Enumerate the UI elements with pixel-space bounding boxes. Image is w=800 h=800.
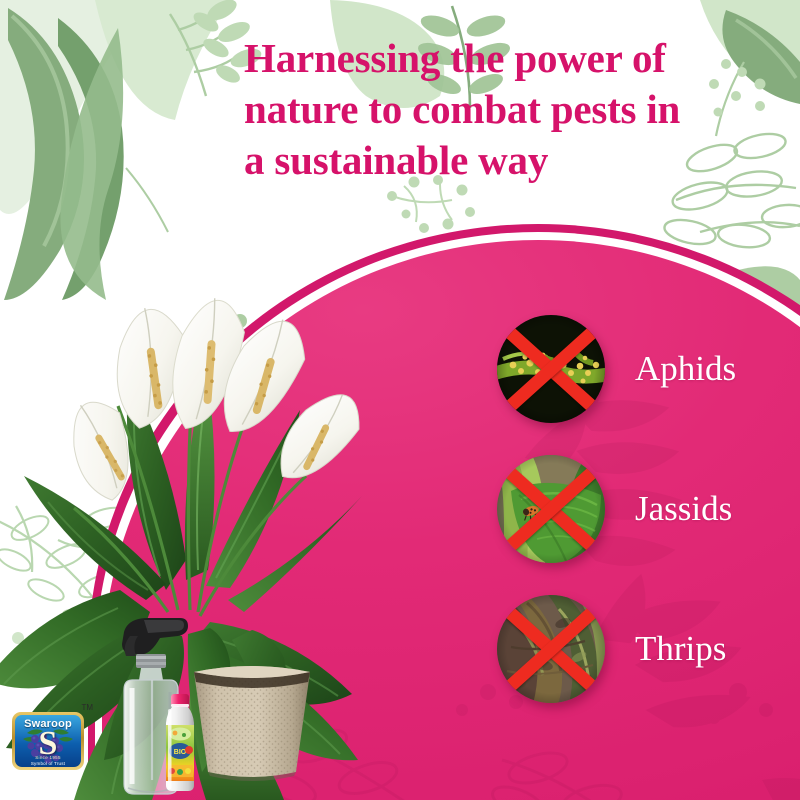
aphids-photo-circle[interactable]	[497, 315, 605, 423]
pest-item-thrips[interactable]: Thrips	[497, 595, 726, 703]
pest-item-jassids[interactable]: Jassids	[497, 455, 732, 563]
headline-line-3: a sustainable way	[244, 135, 784, 186]
trademark-symbol: TM	[81, 703, 93, 712]
logo-inner: Swaroop S Since 1955 Symbol of Trust	[15, 715, 81, 767]
headline-line-1: Harnessing the power of	[244, 33, 784, 84]
page-title: Harnessing the power of nature to combat…	[244, 33, 784, 185]
thrips-photo-circle[interactable]	[497, 595, 605, 703]
red-cross-icon	[497, 315, 605, 423]
brand-logo[interactable]: TM	[12, 706, 92, 770]
red-cross-icon	[497, 455, 605, 563]
product-bottle-icon: BIO	[159, 693, 201, 793]
beige-textured-planter	[190, 662, 314, 782]
planter-pot-icon	[190, 662, 314, 782]
pest-item-aphids[interactable]: Aphids	[497, 315, 736, 423]
logo-plate: Swaroop S Since 1955 Symbol of Trust	[12, 712, 84, 770]
logo-since-text: Since 1955	[15, 755, 81, 760]
headline-line-2: nature to combat pests in	[244, 84, 784, 135]
svg-text:BIO: BIO	[174, 749, 187, 756]
pest-label-aphids: Aphids	[635, 349, 736, 389]
pest-label-thrips: Thrips	[635, 629, 726, 669]
poster-canvas: Harnessing the power of nature to combat…	[0, 0, 800, 800]
red-cross-icon	[497, 595, 605, 703]
jassids-photo-circle[interactable]	[497, 455, 605, 563]
bio-kill-bottle: BIO	[159, 693, 201, 793]
logo-tagline: Symbol of Trust	[15, 761, 81, 766]
pest-label-jassids: Jassids	[635, 489, 732, 529]
